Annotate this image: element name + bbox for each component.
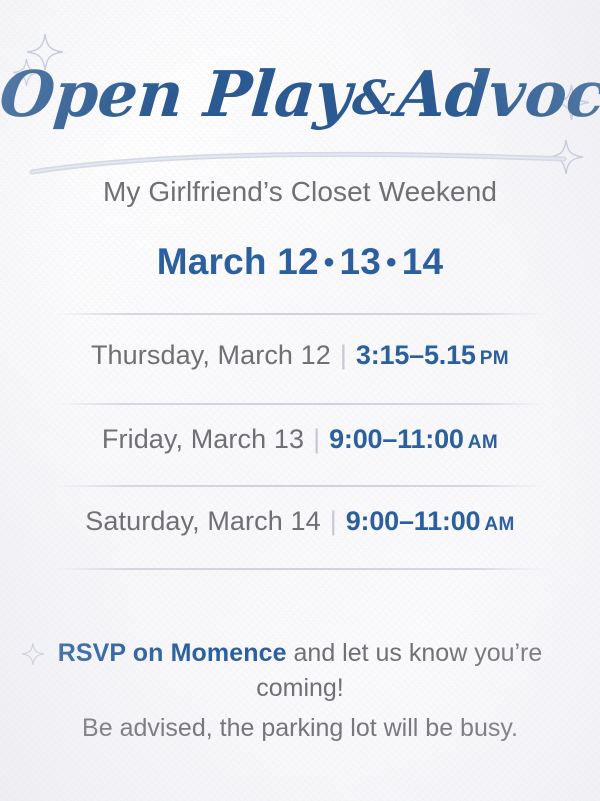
schedule-separator: | [321,506,346,536]
schedule-row-friday: Friday, March 13|9:00–11:00AM [0,424,600,455]
dates-separator-2: • [381,246,402,279]
dates-day-2: 13 [339,241,381,282]
poster-canvas: Open Play&Advocate My Girlfriend’s Close… [0,0,600,801]
page-title: Open Play&Advocate [0,62,600,128]
footer-line-2: Be advised, the parking lot will be busy… [30,711,570,746]
divider-2 [56,403,544,405]
dates-day-3: 14 [402,241,444,282]
subtitle: My Girlfriend’s Closet Weekend [0,176,600,208]
rsvp-link[interactable]: RSVP on Momence [58,639,287,667]
schedule-day-label: Saturday, March 14 [85,506,320,536]
dates-month: March [157,241,267,282]
dates-separator-1: • [319,246,340,279]
schedule-day-label: Thursday, March 12 [91,340,331,370]
dates-headline: March 12•13•14 [0,241,600,283]
title-part-1: Open Play [0,57,354,131]
schedule-row-saturday: Saturday, March 14|9:00–11:00AM [0,506,600,537]
schedule-separator: | [331,340,356,370]
schedule-meridiem: PM [476,348,509,369]
divider-4 [56,568,544,570]
divider-3 [56,485,544,487]
title-part-2: Advocate [394,57,600,131]
schedule-meridiem: AM [480,514,514,535]
title-ampersand: & [348,71,399,126]
schedule-row-thursday: Thursday, March 12|3:15–5.15PM [0,340,600,371]
footer-line-1-rest: and let us know you’re coming! [256,639,542,702]
footer-note: RSVP on Momence and let us know you’re c… [30,636,570,746]
sparkle-top-right-small-icon [549,140,583,174]
schedule-time-value: 9:00–11:00 [329,424,464,454]
schedule-time-value: 3:15–5.15 [356,340,476,370]
schedule-time-value: 9:00–11:00 [346,506,481,536]
schedule-meridiem: AM [464,432,498,453]
dates-day-1: 12 [277,241,319,282]
title-underline-swoosh [28,148,568,176]
sparkle-footer-icon [22,640,44,675]
divider-1 [56,313,544,315]
schedule-day-label: Friday, March 13 [102,424,304,454]
title-block: Open Play&Advocate [0,62,600,128]
schedule-separator: | [304,424,329,454]
